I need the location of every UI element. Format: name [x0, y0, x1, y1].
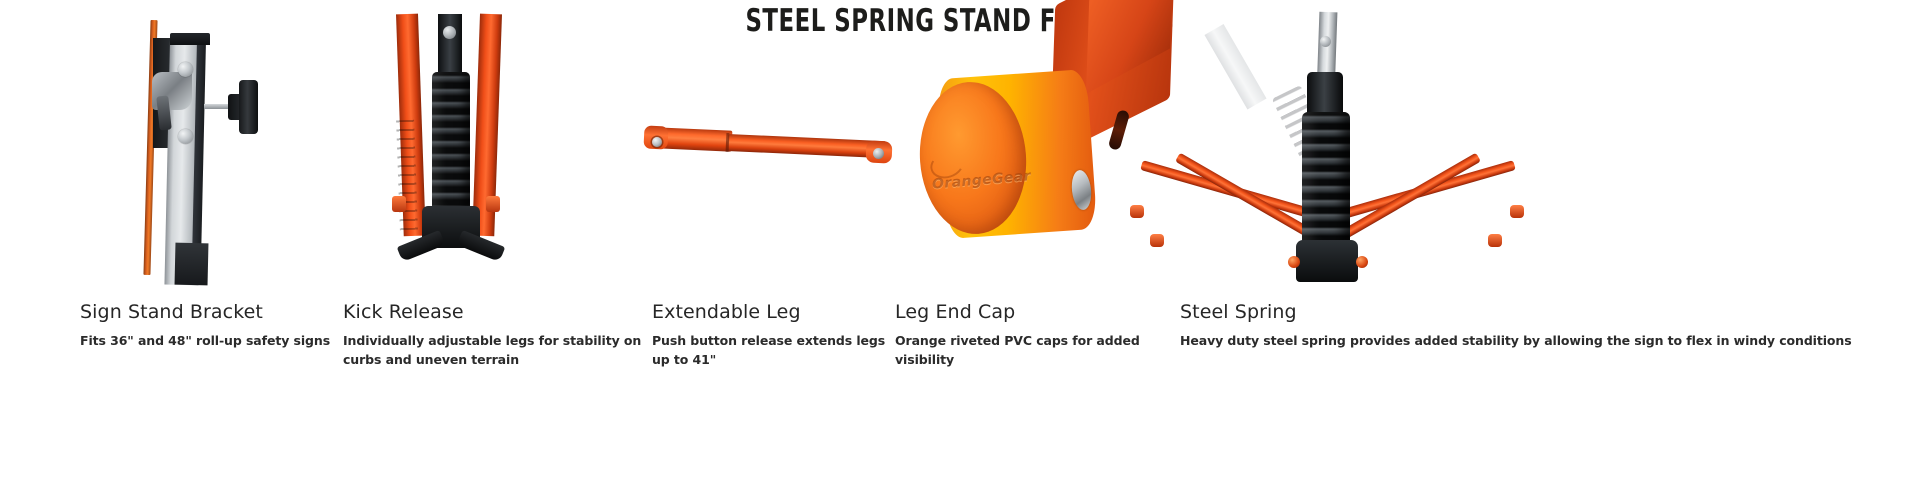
bracket-foot: [175, 243, 209, 286]
push-button-release: [652, 137, 662, 147]
feature-list: Sign Stand Bracket Fits 36" and 48" roll…: [0, 0, 1920, 480]
arm-cap-upper-left: [1130, 205, 1144, 218]
feature-description: Push button release extends legs up to 4…: [652, 331, 902, 369]
arm-cap-lower-left: [1150, 234, 1164, 247]
caption-leg-end-cap: Leg End Cap Orange riveted PVC caps for …: [895, 300, 1185, 369]
caption-kick-release: Kick Release Individually adjustable leg…: [343, 300, 643, 369]
arm-pivot-right: [1356, 256, 1368, 268]
arm-cap-lower-right: [1488, 234, 1502, 247]
feature-panel-leg-end-cap[interactable]: OrangeGear Leg End Cap Orange riveted PV…: [890, 0, 1180, 480]
bracket-bolt-upper: [178, 62, 193, 77]
feature-panel-steel-spring[interactable]: Steel Spring Heavy duty steel spring pro…: [1180, 0, 1920, 480]
bracket-top-cap: [170, 33, 210, 45]
caption-extendable-leg: Extendable Leg Push button release exten…: [652, 300, 902, 369]
feature-panel-extendable-leg[interactable]: Extendable Leg Push button release exten…: [640, 0, 890, 480]
feature-description: Heavy duty steel spring provides added s…: [1180, 331, 1920, 350]
kick-release-bolt: [443, 26, 456, 39]
feature-title: Steel Spring: [1180, 300, 1920, 324]
t-knob-handle: [239, 80, 258, 134]
sign-stand-bracket-photo: [0, 0, 340, 292]
kick-release-photo: [340, 0, 640, 292]
feature-title: Kick Release: [343, 300, 643, 324]
kick-release-spring: [432, 72, 470, 212]
feature-panel-sign-stand-bracket[interactable]: Sign Stand Bracket Fits 36" and 48" roll…: [0, 0, 340, 480]
kick-release-tab-right: [486, 196, 500, 212]
kick-release-notches: [396, 120, 418, 231]
steel-coil-spring: [1302, 112, 1350, 248]
caption-steel-spring: Steel Spring Heavy duty steel spring pro…: [1180, 300, 1920, 350]
feature-title: Leg End Cap: [895, 300, 1185, 324]
ghost-mast-flexed: [1204, 24, 1266, 109]
steel-spring-photo: [1180, 0, 1920, 292]
spring-base-casting: [1296, 240, 1358, 282]
kick-release-tab-left: [392, 196, 406, 212]
arm-pivot-left: [1288, 256, 1300, 268]
feature-title: Extendable Leg: [652, 300, 902, 324]
leg-end-cap-photo: OrangeGear: [890, 0, 1180, 292]
extendable-leg-photo: [640, 0, 890, 292]
mast-bolt-upper: [1320, 36, 1331, 47]
feature-description: Orange riveted PVC caps for added visibi…: [895, 331, 1185, 369]
extendable-leg-inner-tube: [728, 134, 887, 158]
feature-panel-kick-release[interactable]: Kick Release Individually adjustable leg…: [340, 0, 640, 480]
feature-description: Individually adjustable legs for stabili…: [343, 331, 643, 369]
extendable-leg-rivet: [873, 148, 884, 159]
arm-cap-upper-right: [1510, 205, 1524, 218]
bracket-bolt-lower: [178, 129, 193, 144]
